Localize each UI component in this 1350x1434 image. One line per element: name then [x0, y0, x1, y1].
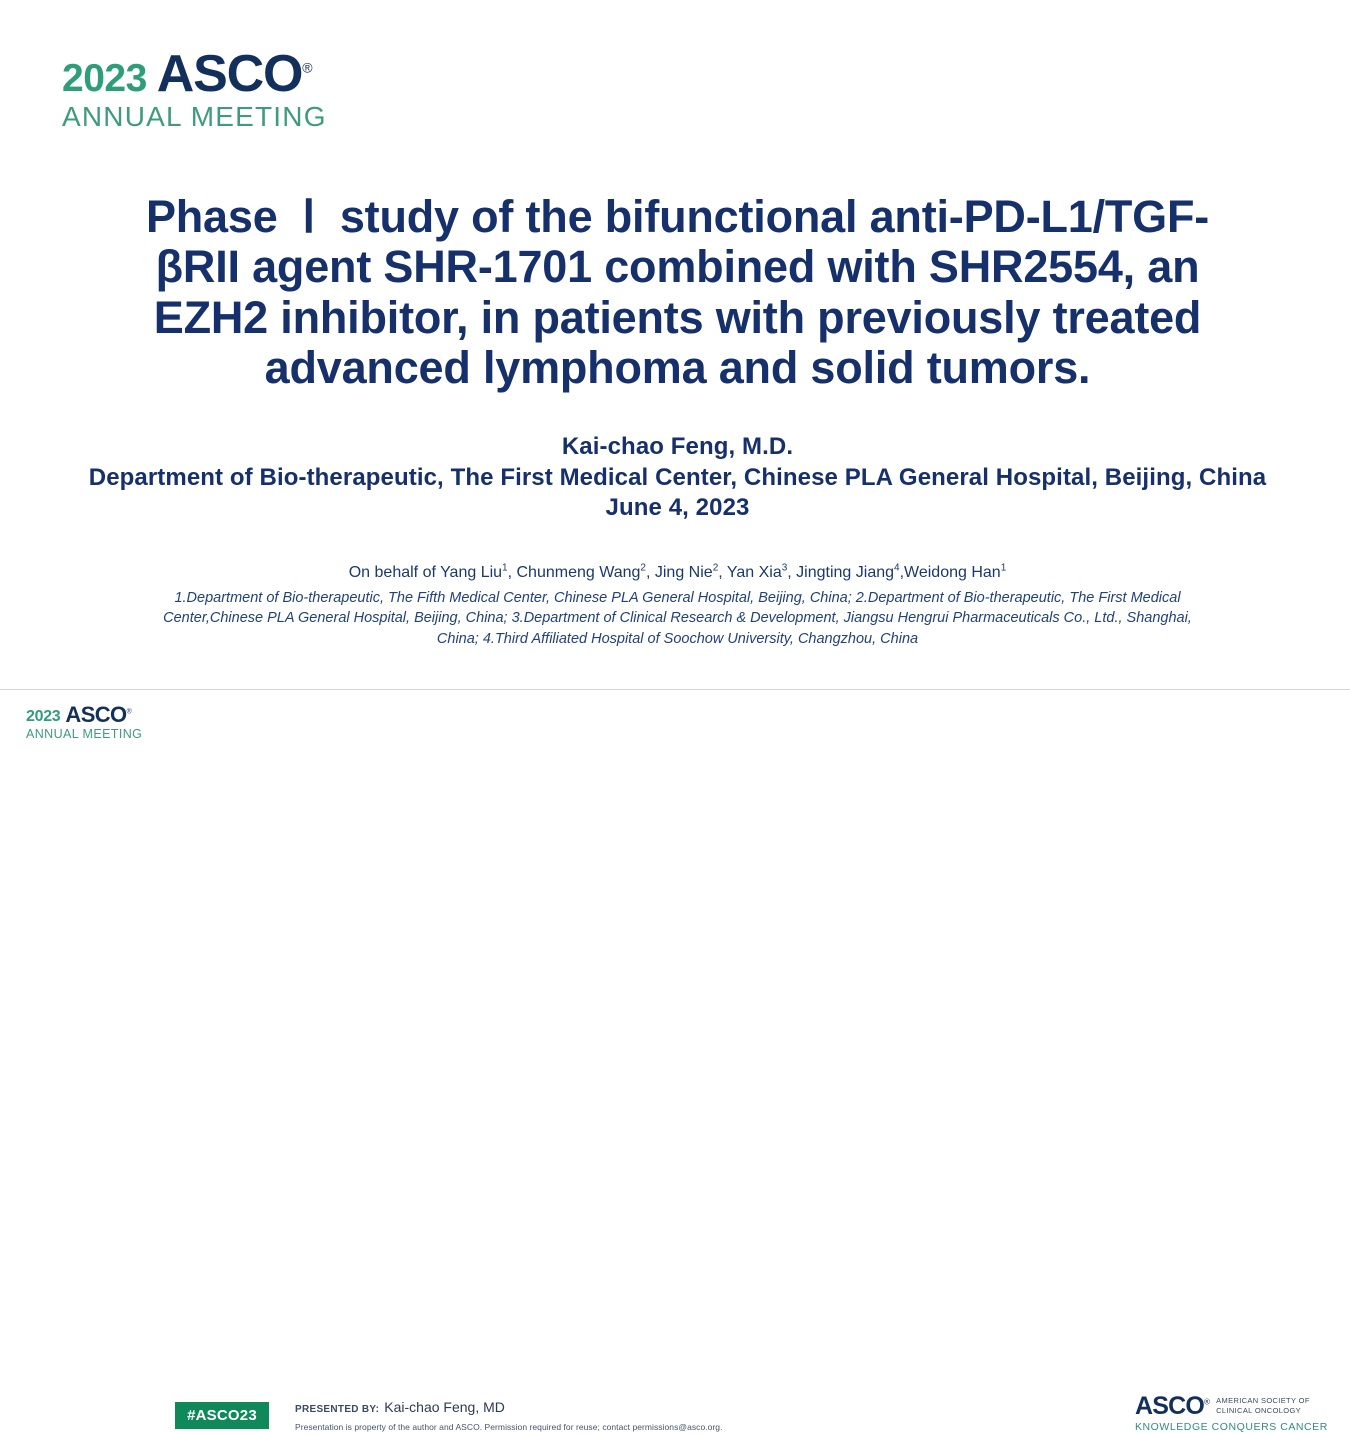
corporate-registered-trademark-icon: ®: [1204, 1398, 1209, 1407]
page-title: Phase Ⅰ study of the bifunctional anti-P…: [105, 192, 1250, 394]
author-separator: ,: [646, 564, 655, 581]
author-name: Jingting Jiang: [796, 564, 894, 581]
corporate-society-name: AMERICAN SOCIETY OF CLINICAL ONCOLOGY: [1216, 1394, 1310, 1416]
author-separator: ,: [508, 564, 517, 581]
logo-primary-row: 2023 ASCO®: [62, 48, 332, 100]
asco-annual-meeting-logo: 2023 ASCO® ANNUAL MEETING: [62, 48, 332, 136]
logo-brand-text: ASCO: [157, 45, 302, 103]
author-names: Yang Liu1, Chunmeng Wang2, Jing Nie2, Ya…: [440, 564, 1006, 581]
footer-logo-primary-row: 2023 ASCO®: [26, 704, 161, 726]
affiliations-line-2: Center,Chinese PLA General Hospital, Bei…: [70, 608, 1285, 629]
author-list: On behalf of Yang Liu1, Chunmeng Wang2, …: [70, 562, 1285, 584]
footer-logo-wordmark: ASCO®: [65, 704, 131, 726]
asco-corporate-logo: ASCO® AMERICAN SOCIETY OF CLINICAL ONCOL…: [1135, 1394, 1335, 1434]
logo-wordmark: ASCO®: [157, 48, 312, 100]
author-separator: ,: [718, 564, 727, 581]
author-name: Yan Xia: [727, 564, 782, 581]
corporate-brand-text: ASCO: [1135, 1392, 1204, 1420]
presented-by-block: Presented by:Kai-chao Feng, MD Presentat…: [295, 1399, 722, 1432]
author-affiliation-marker: 1: [1001, 563, 1007, 574]
presenter-affiliation: Department of Bio-therapeutic, The First…: [75, 463, 1280, 494]
footer-logo-tagline: ANNUAL MEETING: [26, 727, 161, 741]
affiliations-line-1: 1.Department of Bio-therapeutic, The Fif…: [70, 588, 1285, 609]
title-line1-part1: Phase: [146, 191, 278, 242]
rights-notice: Presentation is property of the author a…: [295, 1422, 722, 1432]
presenter-block: Kai-chao Feng, M.D. Department of Bio-th…: [75, 432, 1280, 524]
presenter-name: Kai-chao Feng, M.D.: [75, 432, 1280, 463]
presented-by-row: Presented by:Kai-chao Feng, MD: [295, 1399, 722, 1417]
presented-by-label: Presented by:: [295, 1404, 379, 1415]
title-line4: lymphoma and solid tumors.: [483, 342, 1090, 393]
logo-tagline: ANNUAL MEETING: [62, 102, 332, 133]
title-roman-numeral: Ⅰ: [302, 192, 315, 242]
society-line-2: CLINICAL ONCOLOGY: [1216, 1406, 1301, 1415]
title-block: Phase Ⅰ study of the bifunctional anti-P…: [105, 192, 1250, 394]
author-name: Chunmeng Wang: [517, 564, 641, 581]
presentation-date: June 4, 2023: [75, 493, 1280, 524]
author-list-prefix: On behalf of: [349, 564, 440, 581]
society-line-1: AMERICAN SOCIETY OF: [1216, 1396, 1310, 1405]
authors-block: On behalf of Yang Liu1, Chunmeng Wang2, …: [70, 562, 1285, 649]
corporate-logo-primary-row: ASCO® AMERICAN SOCIETY OF CLINICAL ONCOL…: [1135, 1394, 1335, 1419]
corporate-logo-tagline: KNOWLEDGE CONQUERS CANCER: [1135, 1422, 1335, 1434]
author-name: Weidong Han: [904, 564, 1001, 581]
footer-logo-year: 2023: [26, 709, 60, 726]
registered-trademark-icon: ®: [302, 60, 311, 76]
footer-logo-brand-text: ASCO: [65, 702, 126, 727]
affiliations-line-3: China; 4.Third Affiliated Hospital of So…: [70, 629, 1285, 650]
footer-bar: 2023 ASCO® ANNUAL MEETING #ASCO23 Presen…: [0, 690, 1350, 760]
logo-year: 2023: [62, 59, 147, 100]
footer-registered-trademark-icon: ®: [127, 709, 132, 716]
author-name: Jing Nie: [655, 564, 713, 581]
footer-asco-logo: 2023 ASCO® ANNUAL MEETING: [26, 704, 161, 741]
author-name: Yang Liu: [440, 564, 502, 581]
hashtag-badge: #ASCO23: [175, 1402, 269, 1429]
author-separator: ,: [787, 564, 796, 581]
presented-by-name: Kai-chao Feng, MD: [384, 1399, 505, 1415]
corporate-logo-wordmark: ASCO®: [1135, 1394, 1209, 1419]
